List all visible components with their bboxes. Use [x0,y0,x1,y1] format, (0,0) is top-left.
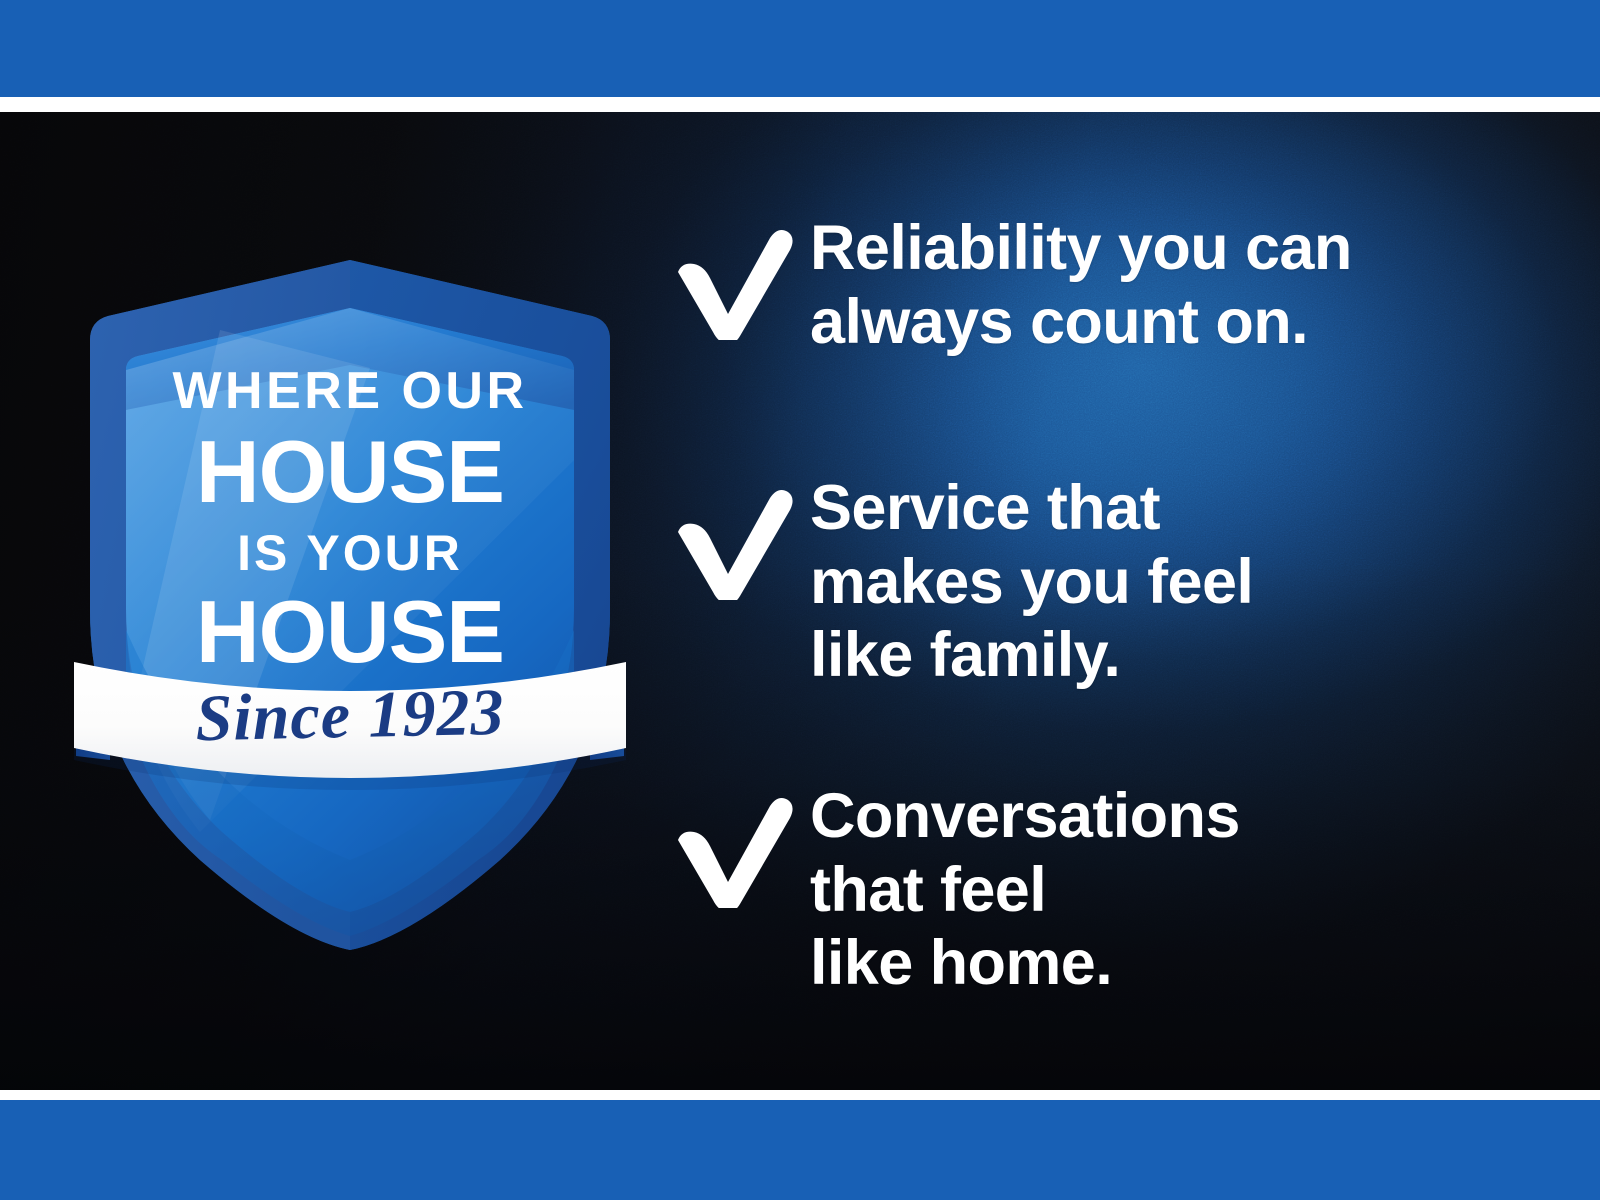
checkmark-icon [660,472,810,600]
brand-bar-bottom [0,1100,1600,1200]
value-points-list: Reliability you can always count on. Ser… [660,112,1560,1090]
brand-bar-top [0,0,1600,97]
checkmark-icon [660,212,810,340]
value-point-text: Reliability you can always count on. [810,212,1352,359]
shield-badge: WHERE OUR HOUSE IS YOUR HOUSE Since 1923 [70,160,630,950]
promo-graphic: WHERE OUR HOUSE IS YOUR HOUSE Since 1923… [0,0,1600,1200]
value-point-3: Conversations that feel like home. [660,780,1240,1001]
divider-bottom [0,1090,1600,1100]
value-point-text: Service that makes you feel like family. [810,472,1253,693]
divider-top [0,97,1600,112]
value-point-1: Reliability you can always count on. [660,212,1352,359]
value-point-2: Service that makes you feel like family. [660,472,1253,693]
checkmark-icon [660,780,810,908]
value-point-text: Conversations that feel like home. [810,780,1240,1001]
